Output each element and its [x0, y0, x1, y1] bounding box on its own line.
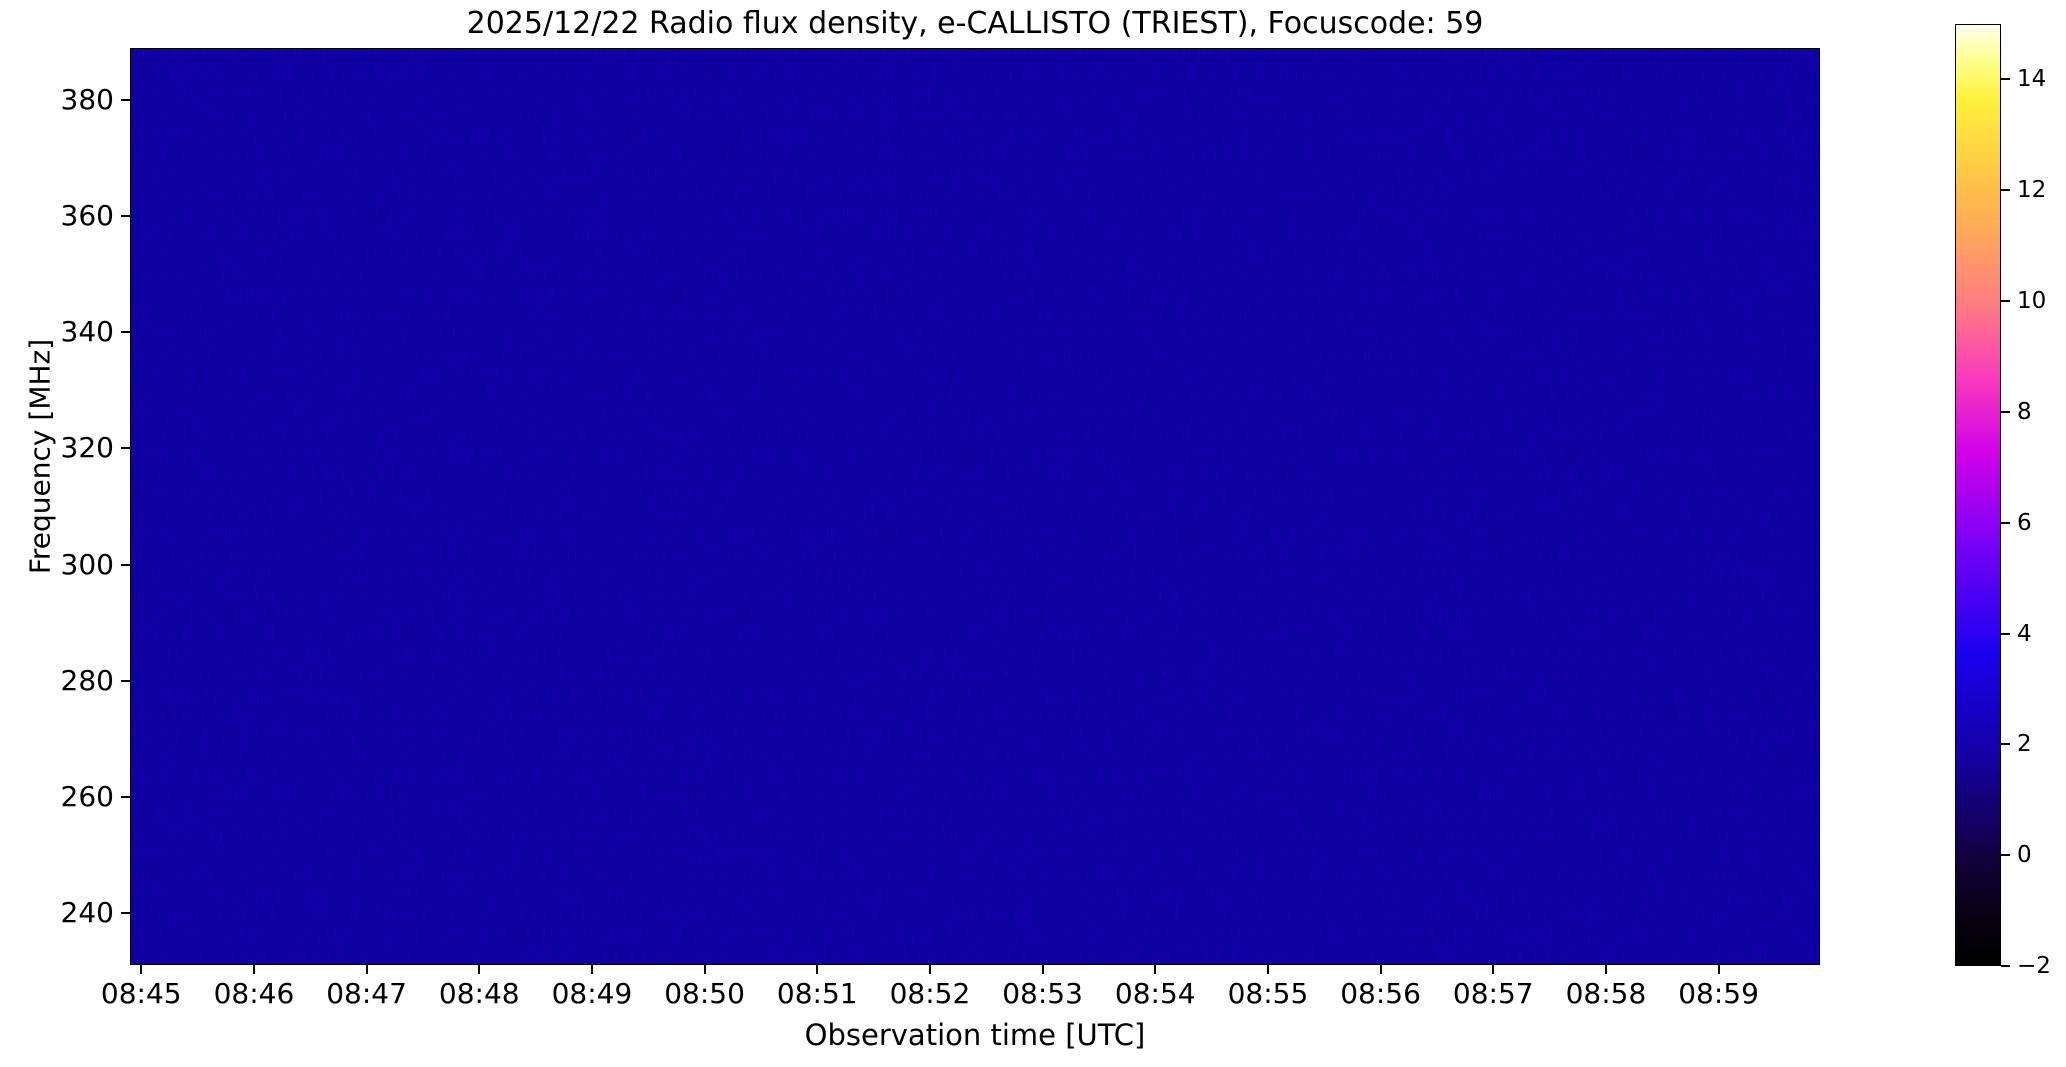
y-tick-mark — [121, 215, 130, 217]
colorbar-tick-mark — [2001, 189, 2010, 191]
colorbar-tick-label: 12 — [2017, 175, 2046, 205]
x-tick-label: 08:51 — [755, 977, 879, 1011]
y-tick-label: 300 — [61, 547, 114, 583]
x-tick-mark — [816, 965, 818, 974]
colorbar-tick-mark — [2001, 854, 2010, 856]
x-tick-mark — [253, 965, 255, 974]
x-tick-label: 08:46 — [192, 977, 316, 1011]
colorbar-tick-mark — [2001, 411, 2010, 413]
y-axis-label: Frequency [MHz] — [24, 247, 57, 667]
colorbar-tick-mark — [2001, 633, 2010, 635]
colorbar-tick-label: 2 — [2017, 729, 2032, 759]
colorbar-tick-mark — [2001, 743, 2010, 745]
y-tick-label: 240 — [61, 895, 114, 931]
y-tick-label: 340 — [61, 314, 114, 350]
page-title: 2025/12/22 Radio flux density, e-CALLIST… — [130, 6, 1820, 42]
y-tick-mark — [121, 331, 130, 333]
colorbar-tick-label: 14 — [2017, 64, 2046, 94]
x-tick-mark — [478, 965, 480, 974]
spectrogram-image — [131, 49, 1819, 964]
colorbar-tick-label: 0 — [2017, 840, 2032, 870]
x-tick-mark — [1267, 965, 1269, 974]
figure-canvas: 2025/12/22 Radio flux density, e-CALLIST… — [0, 0, 2066, 1067]
y-tick-label: 260 — [61, 779, 114, 815]
colorbar-tick-label: 10 — [2017, 286, 2046, 316]
colorbar-tick-label: 6 — [2017, 508, 2032, 538]
x-tick-mark — [929, 965, 931, 974]
x-tick-label: 08:55 — [1206, 977, 1330, 1011]
x-tick-mark — [591, 965, 593, 974]
x-tick-mark — [1380, 965, 1382, 974]
x-tick-label: 08:53 — [981, 977, 1105, 1011]
spectrogram-axes[interactable] — [130, 48, 1820, 965]
x-tick-mark — [1605, 965, 1607, 974]
x-tick-mark — [1492, 965, 1494, 974]
colorbar-tick-mark — [2001, 78, 2010, 80]
colorbar-gradient — [1955, 24, 2001, 966]
colorbar-ticks: −202468101214 — [2001, 24, 2066, 966]
y-tick-mark — [121, 564, 130, 566]
y-axis-ticks: 380360340320300280260240 — [0, 48, 130, 965]
y-tick-mark — [121, 447, 130, 449]
x-tick-label: 08:54 — [1093, 977, 1217, 1011]
y-tick-label: 280 — [61, 663, 114, 699]
x-tick-mark — [366, 965, 368, 974]
x-tick-mark — [1718, 965, 1720, 974]
x-tick-mark — [140, 965, 142, 974]
x-tick-label: 08:56 — [1319, 977, 1443, 1011]
colorbar-tick-mark — [2001, 965, 2010, 967]
x-tick-label: 08:45 — [79, 977, 203, 1011]
x-tick-label: 08:50 — [643, 977, 767, 1011]
y-tick-mark — [121, 680, 130, 682]
x-tick-mark — [704, 965, 706, 974]
x-tick-label: 08:57 — [1431, 977, 1555, 1011]
colorbar-tick-label: 4 — [2017, 619, 2032, 649]
x-tick-label: 08:59 — [1657, 977, 1781, 1011]
x-tick-mark — [1042, 965, 1044, 974]
colorbar[interactable]: −202468101214 — [1955, 24, 2001, 966]
colorbar-tick-label: −2 — [2017, 951, 2051, 981]
x-tick-label: 08:49 — [530, 977, 654, 1011]
x-tick-label: 08:58 — [1544, 977, 1668, 1011]
y-tick-mark — [121, 796, 130, 798]
y-tick-label: 380 — [61, 82, 114, 118]
colorbar-tick-label: 8 — [2017, 397, 2032, 427]
y-tick-mark — [121, 99, 130, 101]
colorbar-tick-mark — [2001, 522, 2010, 524]
x-tick-label: 08:52 — [868, 977, 992, 1011]
x-tick-label: 08:48 — [417, 977, 541, 1011]
x-tick-label: 08:47 — [305, 977, 429, 1011]
colorbar-tick-mark — [2001, 300, 2010, 302]
y-tick-label: 360 — [61, 198, 114, 234]
x-axis-label: Observation time [UTC] — [130, 1018, 1820, 1052]
y-tick-mark — [121, 912, 130, 914]
x-tick-mark — [1154, 965, 1156, 974]
x-axis-ticks: 08:4508:4608:4708:4808:4908:5008:5108:52… — [130, 965, 1820, 1025]
y-tick-label: 320 — [61, 430, 114, 466]
